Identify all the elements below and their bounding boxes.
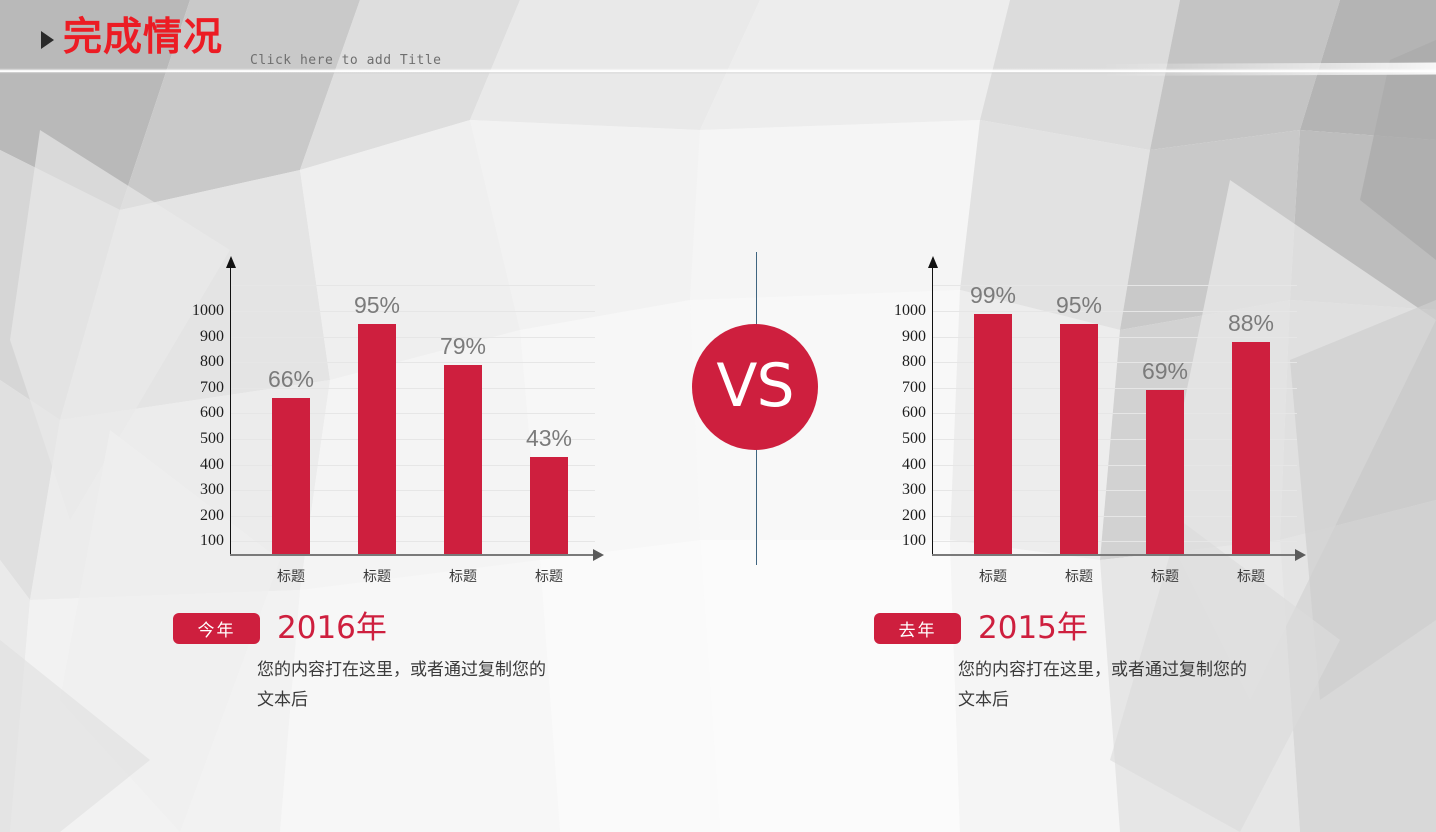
this-year-label: 2016年	[277, 607, 387, 649]
x-axis-arrow-icon	[1295, 549, 1306, 561]
this-year-chart: 1000900800700600500400300200100 66%标题95%…	[178, 252, 598, 572]
x-axis-line-left	[230, 554, 595, 556]
bar[interactable]	[974, 314, 1012, 554]
x-axis-line-right	[932, 554, 1297, 556]
bars-right: 99%标题95%标题69%标题88%标题	[932, 252, 1297, 555]
bar[interactable]	[530, 457, 568, 554]
x-axis-arrow-icon	[593, 549, 604, 561]
x-axis-category-label: 标题	[950, 566, 1036, 586]
y-axis-tick-label: 500	[902, 431, 926, 447]
y-axis-tick-label: 800	[902, 354, 926, 370]
x-axis-category-label: 标题	[1122, 566, 1208, 586]
bars-left: 66%标题95%标题79%标题43%标题	[230, 252, 595, 555]
vs-badge: VS	[692, 324, 818, 450]
bar-group[interactable]: 95%标题	[1036, 251, 1122, 554]
bar[interactable]	[1146, 390, 1184, 554]
bar-group[interactable]: 69%标题	[1122, 251, 1208, 554]
bar-value-label: 79%	[420, 333, 506, 360]
y-axis-tick-label: 100	[200, 533, 224, 549]
y-axis-tick-label: 1000	[894, 303, 926, 319]
y-axis-tick-label: 600	[902, 405, 926, 421]
bar[interactable]	[358, 324, 396, 554]
y-axis-labels-right: 1000900800700600500400300200100	[880, 252, 926, 555]
last-year-chart: 1000900800700600500400300200100 99%标题95%…	[880, 252, 1300, 572]
x-axis-category-label: 标题	[420, 566, 506, 586]
bar-value-label: 99%	[950, 282, 1036, 309]
x-axis-category-label: 标题	[1036, 566, 1122, 586]
y-axis-tick-label: 700	[902, 380, 926, 396]
bar-value-label: 66%	[248, 366, 334, 393]
y-axis-tick-label: 100	[902, 533, 926, 549]
bar-value-label: 95%	[1036, 292, 1122, 319]
bar-group[interactable]: 99%标题	[950, 251, 1036, 554]
bar-group[interactable]: 79%标题	[420, 251, 506, 554]
y-axis-tick-label: 400	[200, 457, 224, 473]
y-axis-tick-label: 600	[200, 405, 224, 421]
bar-group[interactable]: 95%标题	[334, 251, 420, 554]
x-axis-category-label: 标题	[506, 566, 592, 586]
y-axis-tick-label: 700	[200, 380, 224, 396]
y-axis-tick-label: 900	[200, 329, 224, 345]
bar-value-label: 95%	[334, 292, 420, 319]
y-axis-tick-label: 300	[200, 482, 224, 498]
bar[interactable]	[1060, 324, 1098, 554]
x-axis-category-label: 标题	[1208, 566, 1294, 586]
page-subtitle: Click here to add Title	[250, 53, 442, 68]
vs-label: VS	[716, 356, 793, 416]
bar-group[interactable]: 43%标题	[506, 251, 592, 554]
bar-value-label: 43%	[506, 425, 592, 452]
y-axis-tick-label: 300	[902, 482, 926, 498]
y-axis-tick-label: 800	[200, 354, 224, 370]
this-year-badge: 今年	[173, 613, 260, 644]
plot-area-left: 66%标题95%标题79%标题43%标题	[230, 252, 595, 555]
bar-value-label: 69%	[1122, 358, 1208, 385]
last-year-description: 您的内容打在这里，或者通过复制您的文本后	[958, 655, 1248, 715]
header-divider-highlight	[1100, 63, 1436, 76]
y-axis-tick-label: 500	[200, 431, 224, 447]
y-axis-tick-label: 1000	[192, 303, 224, 319]
triangle-right-icon	[41, 31, 54, 49]
bar[interactable]	[1232, 342, 1270, 554]
y-axis-tick-label: 400	[902, 457, 926, 473]
y-axis-labels-left: 1000900800700600500400300200100	[178, 252, 224, 555]
last-year-badge: 去年	[874, 613, 961, 644]
x-axis-category-label: 标题	[334, 566, 420, 586]
last-year-label: 2015年	[978, 607, 1088, 649]
slide-root: 完成情况 Click here to add Title 10009008007…	[0, 0, 1436, 832]
bar[interactable]	[444, 365, 482, 554]
bar-value-label: 88%	[1208, 310, 1294, 337]
bar-group[interactable]: 88%标题	[1208, 251, 1294, 554]
x-axis-category-label: 标题	[248, 566, 334, 586]
page-title: 完成情况	[63, 14, 223, 62]
bar[interactable]	[272, 398, 310, 554]
this-year-description: 您的内容打在这里，或者通过复制您的文本后	[257, 655, 547, 715]
y-axis-tick-label: 200	[902, 508, 926, 524]
y-axis-tick-label: 200	[200, 508, 224, 524]
y-axis-tick-label: 900	[902, 329, 926, 345]
bar-group[interactable]: 66%标题	[248, 251, 334, 554]
plot-area-right: 99%标题95%标题69%标题88%标题	[932, 252, 1297, 555]
